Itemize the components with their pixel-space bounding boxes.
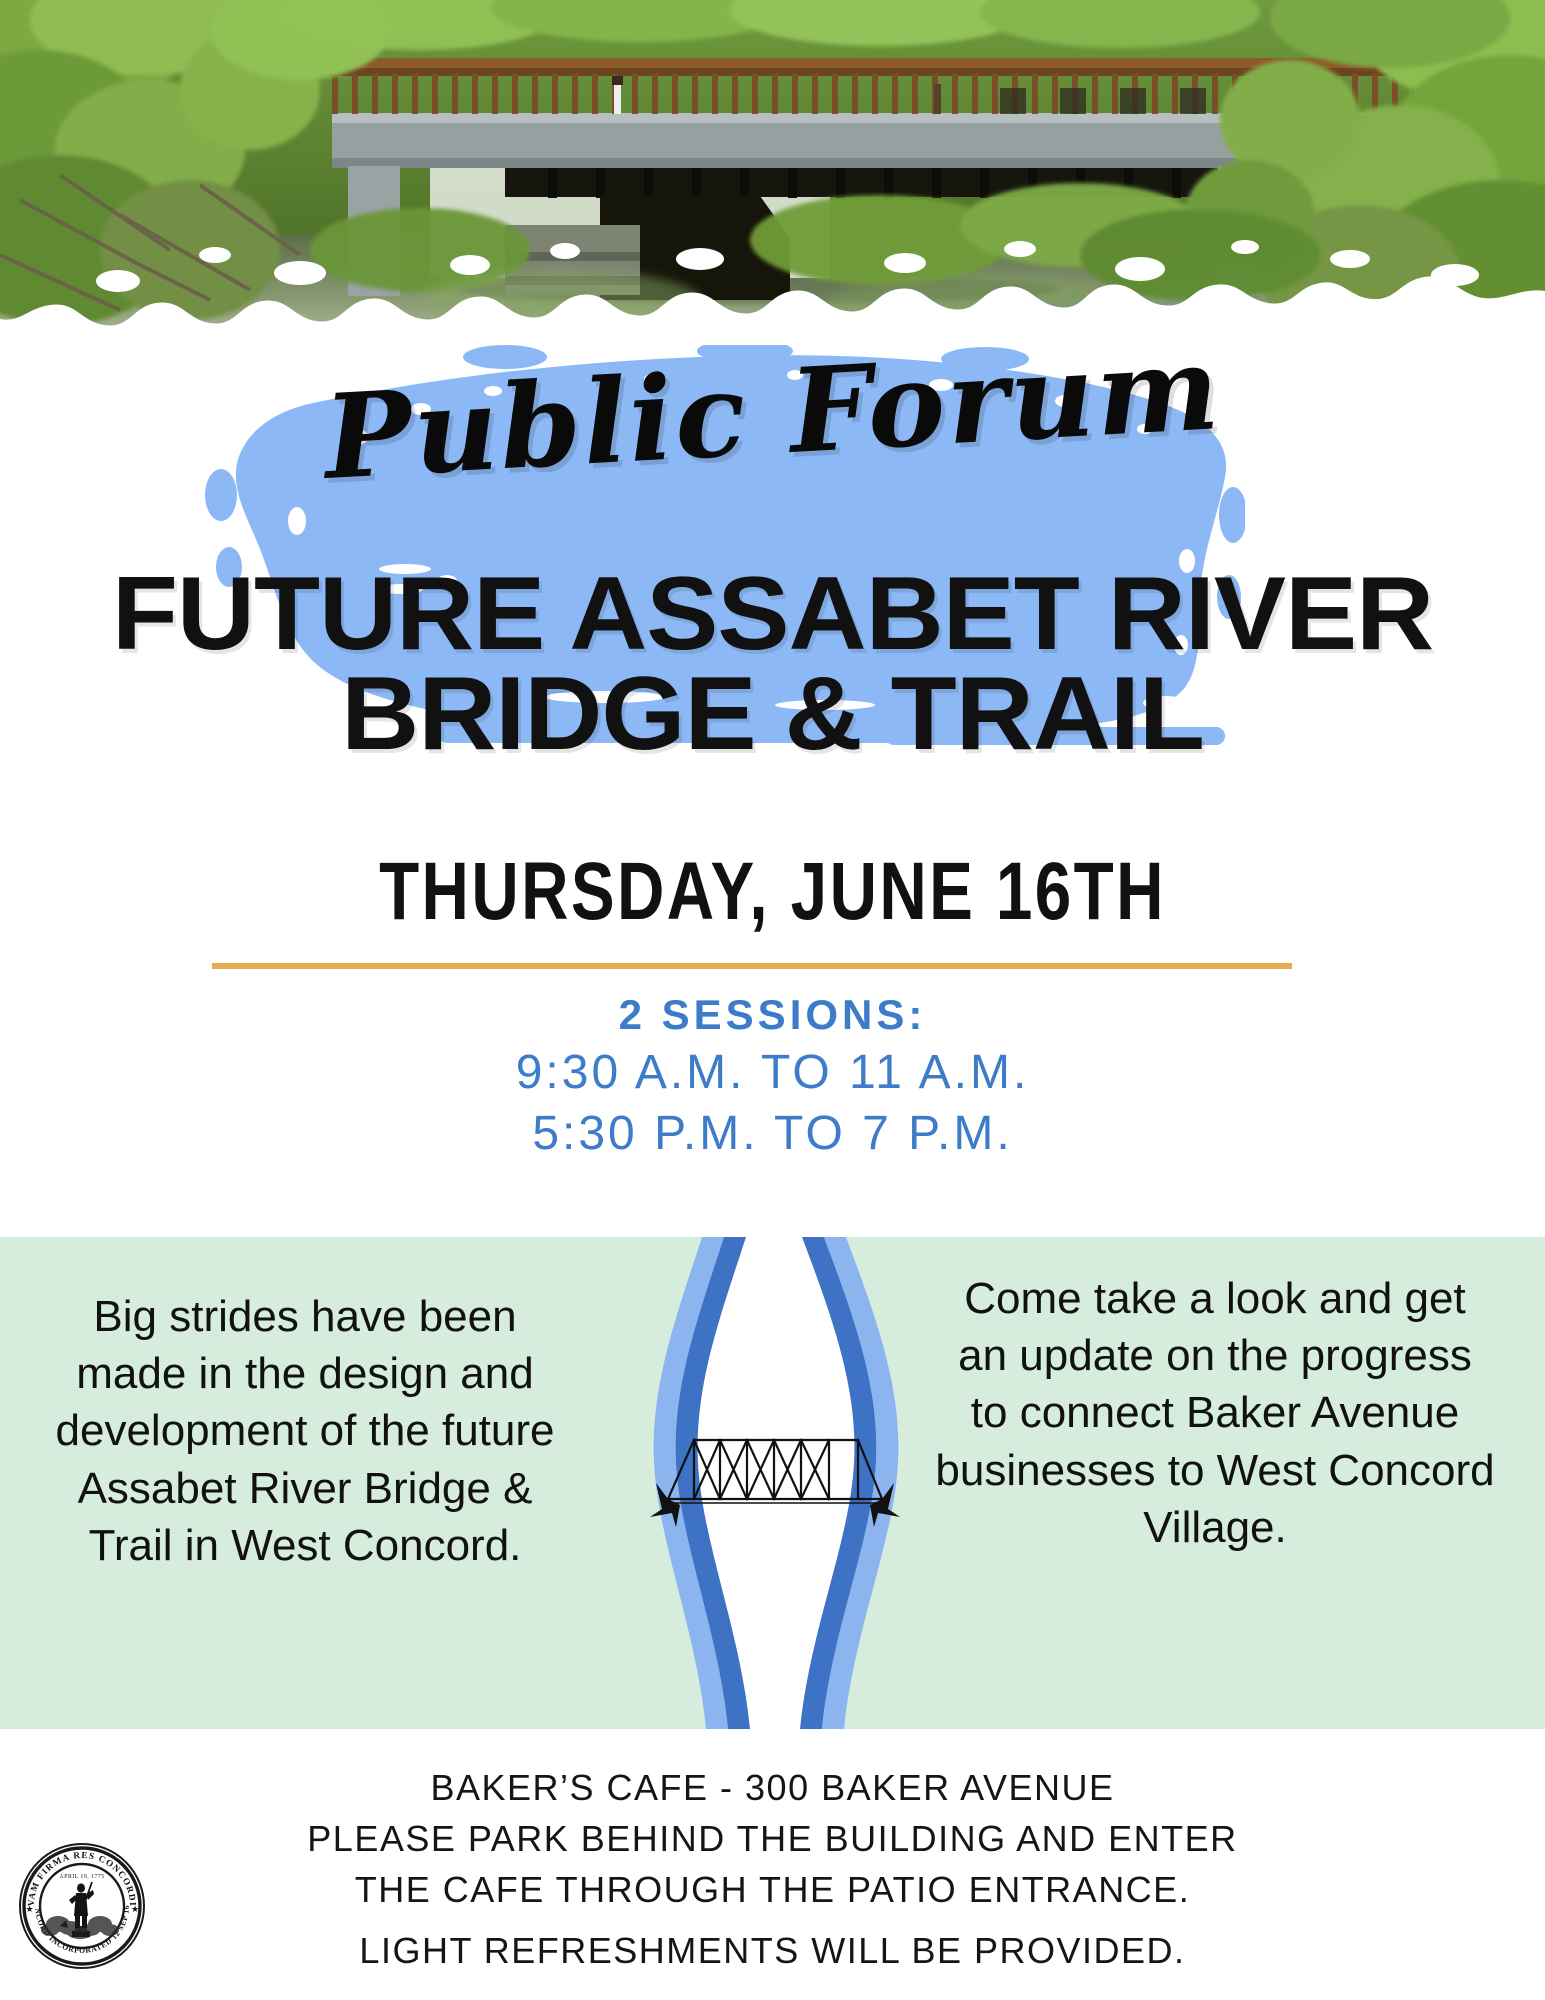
session-time-1: 9:30 A.M. TO 11 A.M. [0, 1042, 1545, 1103]
venue-line-2: PLEASE PARK BEHIND THE BUILDING AND ENTE… [0, 1813, 1545, 1864]
hero-photo [0, 0, 1545, 345]
svg-text:APRIL 19, 1775: APRIL 19, 1775 [59, 1874, 104, 1880]
headline-line-2: BRIDGE & TRAIL [0, 665, 1545, 765]
gold-divider [212, 963, 1292, 969]
svg-text:★: ★ [26, 1905, 34, 1915]
svg-text:★: ★ [131, 1905, 139, 1915]
venue-line-3: THE CAFE THROUGH THE PATIO ENTRANCE. [0, 1864, 1545, 1915]
flyer-page: Public Forum FUTURE ASSABET RIVER BRIDGE… [0, 0, 1545, 2000]
sessions-block: 2 SESSIONS: 9:30 A.M. TO 11 A.M. 5:30 P.… [0, 988, 1545, 1165]
refreshments-note: LIGHT REFRESHMENTS WILL BE PROVIDED. [0, 1930, 1545, 1972]
sessions-heading: 2 SESSIONS: [0, 988, 1545, 1042]
river-and-truss-bridge-illustration [610, 1237, 940, 1729]
session-time-2: 5:30 P.M. TO 7 P.M. [0, 1103, 1545, 1164]
description-right: Come take a look and get an update on th… [935, 1270, 1495, 1556]
event-date: THURSDAY, JUNE 16TH [155, 845, 1391, 939]
town-of-concord-seal: QVAM FIRMA RES CONCORDIA CONCORD INCORPO… [14, 1838, 150, 1974]
concord-seal-icon: QVAM FIRMA RES CONCORDIA CONCORD INCORPO… [14, 1838, 150, 1974]
venue-line-1: BAKER’S CAFE - 300 BAKER AVENUE [0, 1762, 1545, 1813]
page-title: FUTURE ASSABET RIVER BRIDGE & TRAIL [0, 565, 1545, 765]
headline-line-1: FUTURE ASSABET RIVER [112, 556, 1433, 672]
venue-info: BAKER’S CAFE - 300 BAKER AVENUE PLEASE P… [0, 1762, 1545, 1915]
river-illustration [610, 1237, 940, 1729]
description-left: Big strides have been made in the design… [40, 1288, 570, 1574]
